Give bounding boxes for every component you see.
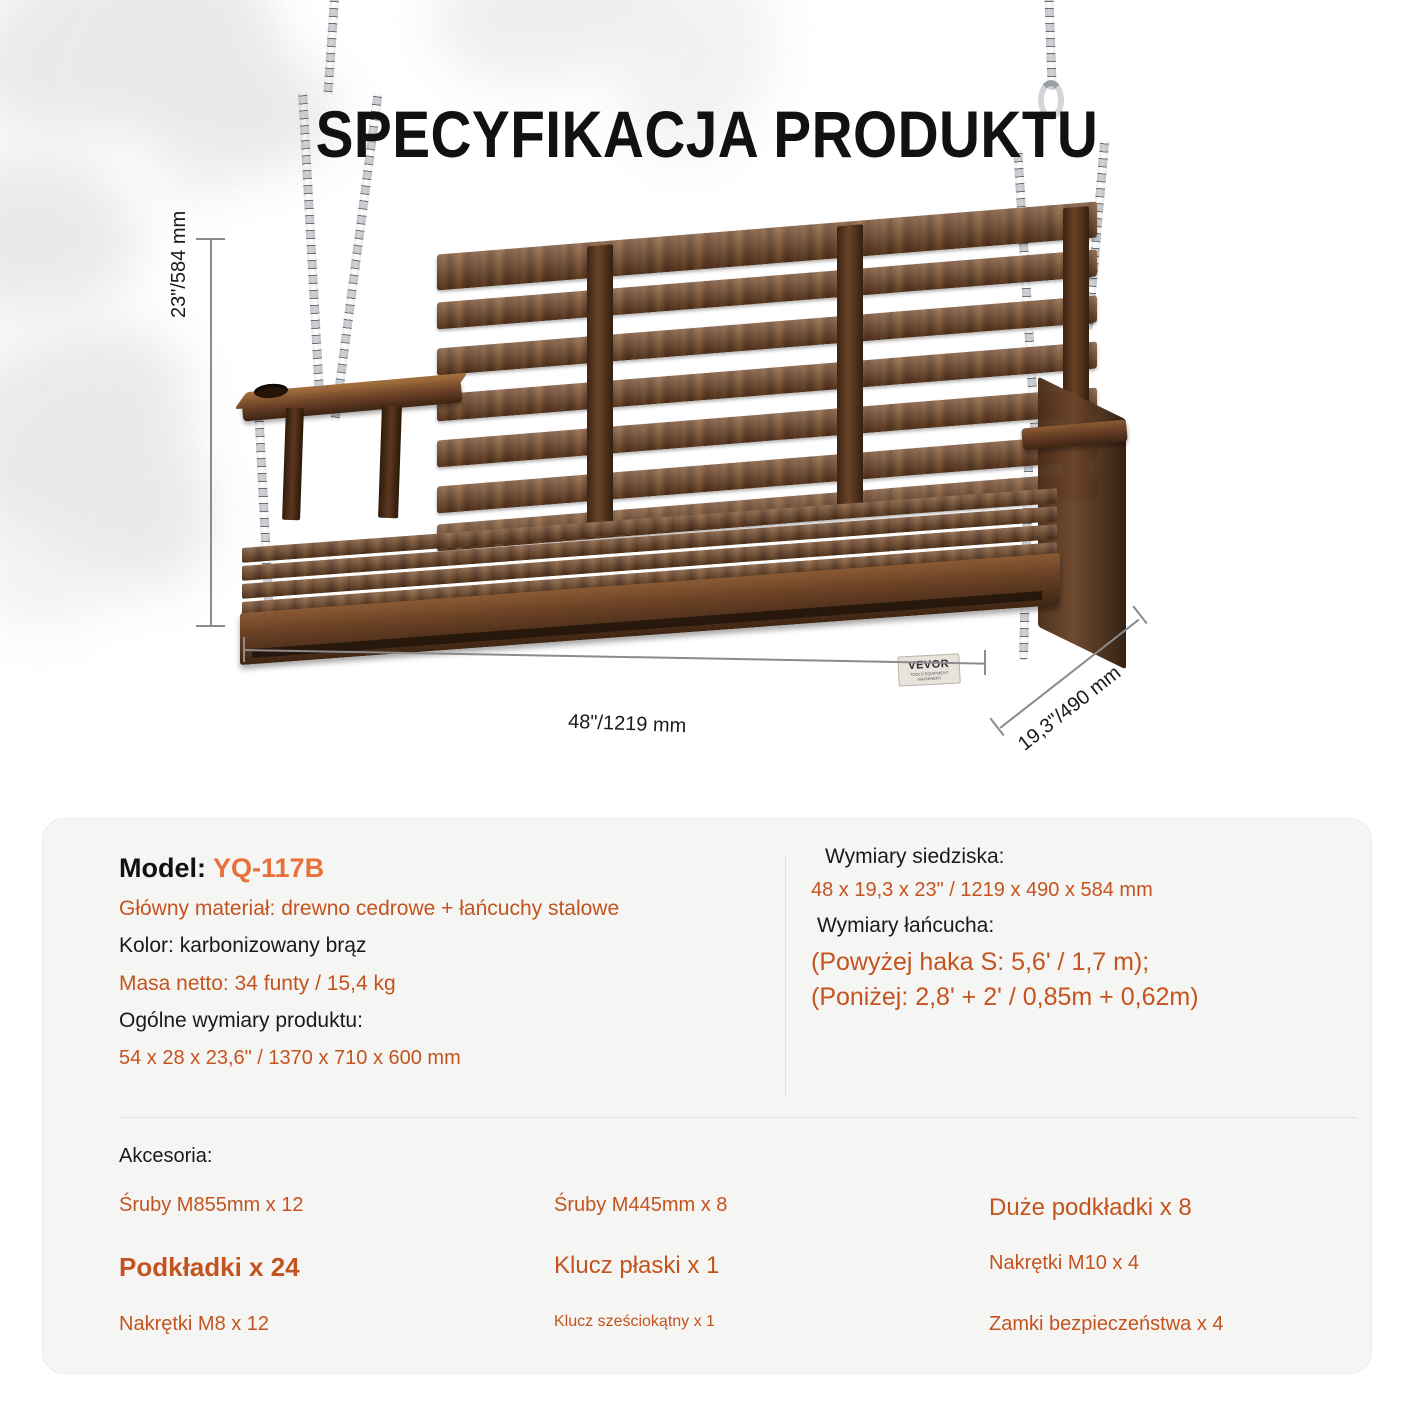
specification-card: Model: YQ-117B Główny materiał: drewno c… — [42, 818, 1372, 1374]
chain-below-hook-value: (Poniżej: 2,8' + 2' / 0,85m + 0,62m) — [811, 983, 1331, 1012]
section-divider — [119, 1117, 1357, 1118]
accessory-item: Klucz płaski x 1 — [554, 1252, 989, 1283]
width-dimension-label: 48"/1219 mm — [568, 711, 687, 739]
vevor-brand-plate: VEVOR TOOLS EQUIPMENT MACHINERY — [897, 653, 960, 686]
accessories-section: Akcesoria: Śruby M855mm x 12Śruby M445mm… — [119, 1145, 1357, 1336]
arm-support-leg — [378, 406, 402, 519]
accessory-item: Klucz sześciokątny x 1 — [554, 1313, 989, 1336]
accessory-item: Zamki bezpieczeństwa x 4 — [989, 1313, 1357, 1336]
vevor-tagline: TOOLS EQUIPMENT MACHINERY — [899, 669, 959, 683]
chain-right-upper — [1044, 0, 1056, 90]
accessory-item: Nakrętki M10 x 4 — [989, 1252, 1357, 1283]
height-dimension-label: 23"/584 mm — [168, 211, 191, 318]
accessories-title: Akcesoria: — [119, 1145, 1357, 1168]
net-weight-row: Masa netto: 34 funty / 15,4 kg — [119, 969, 759, 999]
accessory-item: Śruby M855mm x 12 — [119, 1194, 554, 1222]
page-title: SPECYFIKACJA PRODUKTU — [99, 96, 1315, 172]
seat-dimensions-value: 48 x 19,3 x 23" / 1219 x 490 x 584 mm — [811, 879, 1331, 902]
width-tick-right — [984, 650, 986, 675]
accessory-item: Nakrętki M8 x 12 — [119, 1313, 554, 1336]
spec-column-right: Wymiary siedziska: 48 x 19,3 x 23" / 121… — [811, 845, 1331, 1018]
backrest-post — [837, 224, 863, 518]
width-tick-left — [243, 637, 245, 662]
overall-dimensions-value: 54 x 28 x 23,6" / 1370 x 710 x 600 mm — [119, 1044, 759, 1073]
color-row: Kolor: karbonizowany brąz — [119, 931, 759, 961]
material-row: Główny materiał: drewno cedrowe + łańcuc… — [119, 894, 759, 924]
accessory-item: Śruby M445mm x 8 — [554, 1194, 989, 1222]
model-label: Model: — [119, 853, 206, 883]
overall-dimensions-label: Ogólne wymiary produktu: — [119, 1006, 759, 1036]
height-tick-bottom — [196, 625, 225, 627]
accessories-grid: Śruby M855mm x 12Śruby M445mm x 8Duże po… — [119, 1194, 1357, 1336]
height-dimension-line — [210, 238, 212, 626]
height-tick-top — [196, 238, 225, 240]
chain-dimensions-label: Wymiary łańcucha: — [817, 914, 1331, 938]
accessory-item: Podkładki x 24 — [119, 1252, 554, 1283]
spec-column-left: Model: YQ-117B Główny materiał: drewno c… — [119, 853, 759, 1080]
backrest-post — [587, 244, 613, 538]
porch-swing-bench — [232, 228, 1112, 688]
seat-dimensions-label: Wymiary siedziska: — [825, 845, 1331, 869]
model-value: YQ-117B — [213, 853, 324, 883]
column-divider — [785, 857, 786, 1097]
chain-above-hook-value: (Powyżej haka S: 5,6' / 1,7 m); — [811, 948, 1331, 977]
model-row: Model: YQ-117B — [119, 853, 759, 884]
chain-left-upper — [323, 0, 339, 95]
arm-support-leg — [282, 408, 304, 521]
accessory-item: Duże podkładki x 8 — [989, 1194, 1357, 1222]
